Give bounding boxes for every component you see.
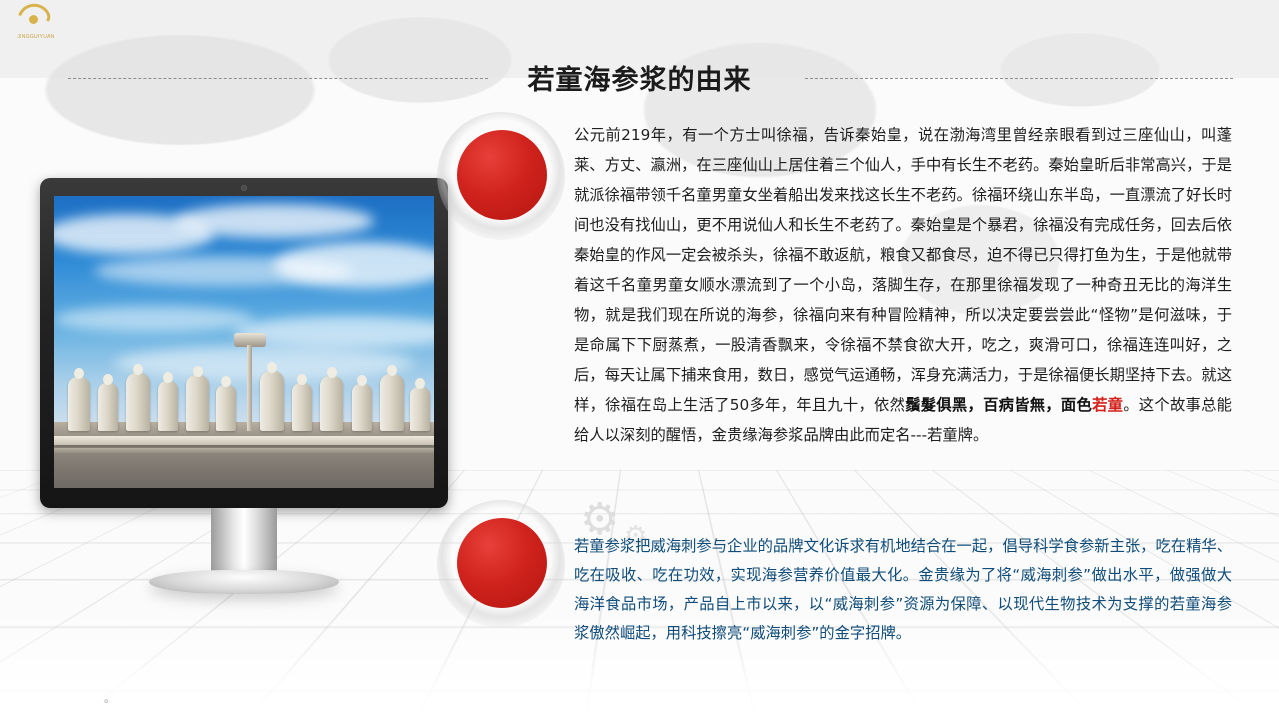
secondary-paragraph: 若童参浆把威海刺参与企业的品牌文化诉求有机地结合在一起，倡导科学食参新主张，吃在… bbox=[574, 532, 1232, 648]
main-paragraph-part1: 公元前219年，有一个方士叫徐福，告诉秦始皇，说在渤海湾里曾经亲眼看到过三座仙山… bbox=[574, 126, 1232, 414]
title-divider-right bbox=[805, 78, 1233, 79]
logo-dot-icon bbox=[29, 15, 38, 24]
webcam-icon bbox=[241, 185, 247, 191]
photo-statue bbox=[186, 375, 209, 431]
main-paragraph: 公元前219年，有一个方士叫徐福，告诉秦始皇，说在渤海湾里曾经亲眼看到过三座仙山… bbox=[574, 120, 1232, 450]
page-title: 若童海参浆的由来 bbox=[528, 58, 752, 97]
photo-ground bbox=[54, 422, 434, 488]
photo-statue bbox=[380, 374, 404, 431]
photo-statue bbox=[352, 384, 372, 431]
slide-canvas: ⚙ ⚙ JINGGUIYUAN 若童海参浆的由来 bbox=[0, 0, 1279, 720]
monitor-stand-base bbox=[149, 570, 339, 594]
main-paragraph-highlight-bold: 鬚髮俱黑，百病皆無，面色 bbox=[905, 396, 1092, 414]
photo-statue bbox=[292, 383, 312, 431]
slide-title-row: 若童海参浆的由来 bbox=[0, 58, 1279, 100]
red-circle-top bbox=[457, 130, 547, 220]
statue-photo bbox=[54, 196, 434, 488]
photo-statue bbox=[410, 387, 430, 431]
photo-railing-lower bbox=[54, 448, 434, 453]
photo-statue bbox=[216, 385, 236, 431]
photo-cloud bbox=[54, 306, 254, 332]
photo-lamp-pole bbox=[247, 345, 252, 431]
photo-statue bbox=[68, 377, 90, 431]
logo-wordmark: JINGGUIYUAN bbox=[8, 34, 64, 40]
photo-cloud bbox=[174, 204, 374, 238]
desktop-monitor bbox=[40, 178, 448, 508]
main-paragraph-highlight-red: 若童 bbox=[1092, 396, 1123, 414]
monitor-stand-neck bbox=[211, 508, 277, 576]
photo-statue bbox=[260, 371, 284, 431]
footer-mark: 。 bbox=[104, 690, 115, 706]
photo-statue bbox=[98, 383, 118, 431]
photo-statue bbox=[126, 373, 150, 431]
photo-statue bbox=[158, 381, 178, 431]
title-divider-left bbox=[68, 78, 488, 79]
photo-statue bbox=[320, 376, 343, 431]
brand-logo: JINGGUIYUAN bbox=[8, 2, 64, 50]
monitor-screen bbox=[54, 196, 434, 488]
photo-railing bbox=[54, 436, 434, 445]
red-circle-bottom bbox=[457, 518, 547, 608]
